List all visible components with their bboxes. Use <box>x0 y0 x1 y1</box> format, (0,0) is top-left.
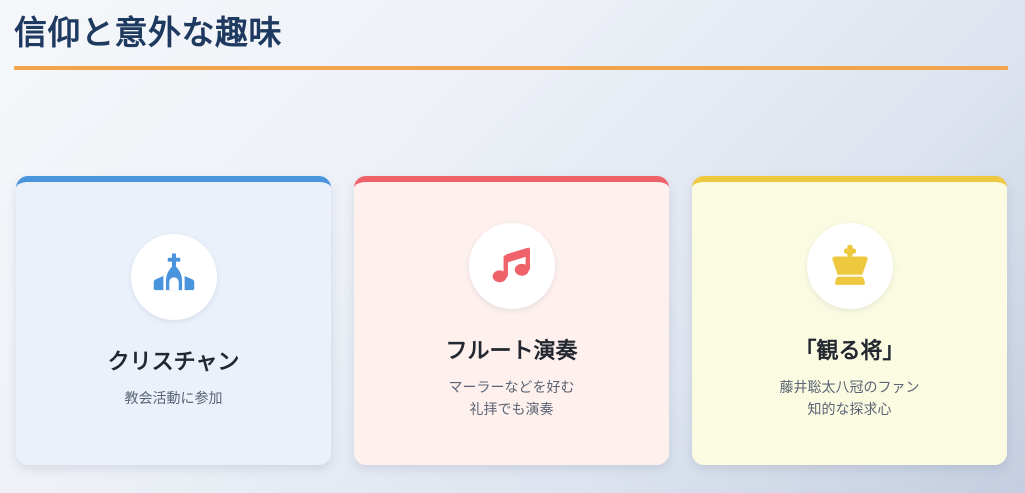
card-description: マーラーなどを好む 礼拝でも演奏 <box>449 365 575 420</box>
card-flute[interactable]: フルート演奏 マーラーなどを好む 礼拝でも演奏 <box>354 176 669 465</box>
card-shogi[interactable]: 「観る将」 藤井聡太八冠のファン 知的な探求心 <box>692 176 1007 465</box>
card-title: クリスチャン <box>108 320 240 376</box>
title-underline-rule <box>14 66 1008 70</box>
card-description-line: マーラーなどを好む <box>449 376 575 398</box>
card-description-line: 教会活動に参加 <box>125 387 223 409</box>
card-christian[interactable]: クリスチャン 教会活動に参加 <box>16 176 331 465</box>
card-description: 藤井聡太八冠のファン 知的な探求心 <box>780 365 920 420</box>
card-description-line: 藤井聡太八冠のファン <box>780 376 920 398</box>
page-title: 信仰と意外な趣味 <box>14 10 1008 56</box>
card-title: フルート演奏 <box>445 309 577 365</box>
slide-root: 信仰と意外な趣味 クリスチャン 教会活動に参加 <box>0 0 1025 493</box>
church-icon <box>131 234 217 320</box>
card-description: 教会活動に参加 <box>125 376 223 409</box>
chess-king-icon <box>807 223 893 309</box>
music-note-icon <box>469 223 555 309</box>
card-title: 「観る将」 <box>794 309 904 365</box>
card-description-line: 知的な探求心 <box>780 398 920 420</box>
card-grid: クリスチャン 教会活動に参加 フルート演奏 <box>16 176 1008 465</box>
card-description-line: 礼拝でも演奏 <box>449 398 575 420</box>
header: 信仰と意外な趣味 <box>14 10 1008 70</box>
